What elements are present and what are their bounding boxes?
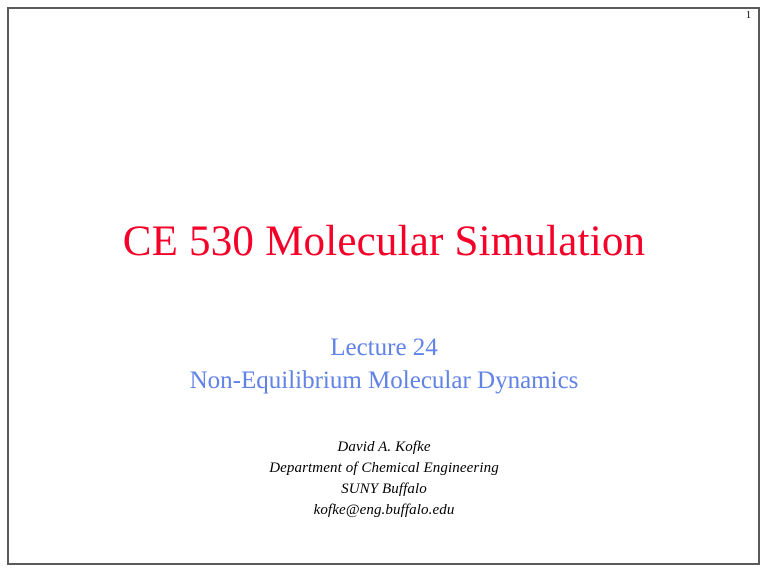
author-name: David A. Kofke [0, 437, 768, 458]
slide-number: 1 [746, 10, 751, 22]
author-email: kofke@eng.buffalo.edu [0, 500, 768, 521]
author-institution: SUNY Buffalo [0, 479, 768, 500]
slide-canvas: 1 CE 530 Molecular Simulation Lecture 24… [0, 0, 768, 576]
title-block: CE 530 Molecular Simulation [0, 217, 768, 267]
subtitle-line-lecture: Lecture 24 [0, 331, 768, 364]
subtitle-block: Lecture 24 Non-Equilibrium Molecular Dyn… [0, 331, 768, 397]
subtitle-line-topic: Non-Equilibrium Molecular Dynamics [0, 364, 768, 397]
page-title: CE 530 Molecular Simulation [0, 217, 768, 267]
author-department: Department of Chemical Engineering [0, 458, 768, 479]
author-block: David A. Kofke Department of Chemical En… [0, 437, 768, 521]
